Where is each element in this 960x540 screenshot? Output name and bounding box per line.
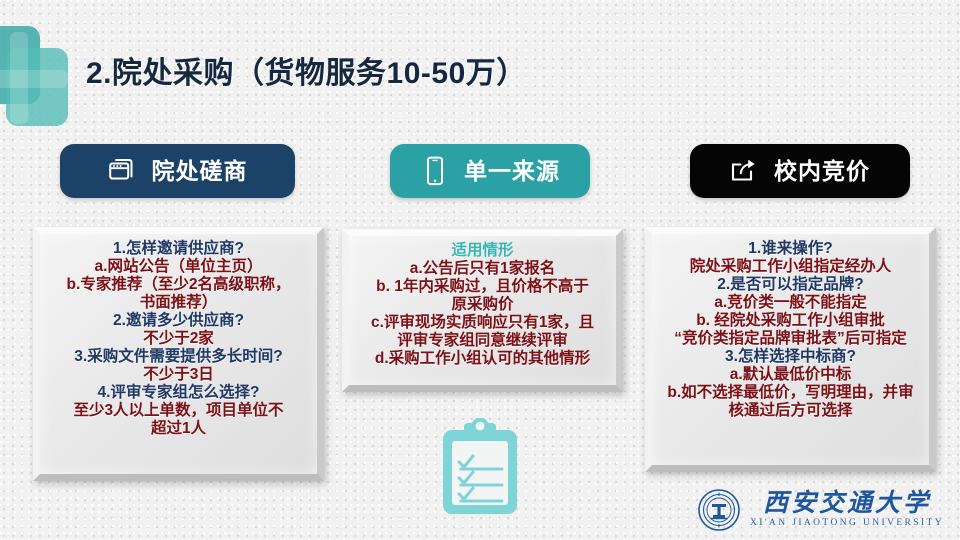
content-card-xiaoneijingjia: 1.谁来操作? 院处采购工作小组指定经办人 2.是否可以指定品牌? a.竞价类一…: [645, 227, 936, 472]
deco-plus-horizontal: [0, 70, 68, 88]
section-header-pill-danyilaiyuan[interactable]: 单一来源: [390, 144, 590, 198]
university-name-cn: 西安交通大学: [763, 491, 931, 516]
card-line: c.评审现场实质响应只有1家，且: [355, 314, 610, 332]
card-line: 3.怎样选择中标商?: [658, 348, 923, 366]
clipboard-checklist-icon: [432, 418, 528, 527]
content-card-yuanchucuoshang: 1.怎样邀请供应商? a.网站公告（单位主页） b.专家推荐（至少2名高级职称，…: [33, 227, 324, 481]
card-line: 评审专家组同意继续评审: [355, 332, 610, 350]
card-line: 不少于2家: [46, 330, 311, 348]
browser-window-icon: [108, 156, 138, 186]
university-seal-icon: [697, 488, 741, 532]
mobile-phone-icon: [420, 156, 450, 186]
card-line: b. 经院处采购工作小组审批: [658, 312, 923, 330]
pill-label: 单一来源: [464, 160, 560, 183]
card-line: a.默认最低价中标: [658, 366, 923, 384]
share-export-icon: [730, 156, 760, 186]
card-line: a.网站公告（单位主页）: [46, 258, 311, 276]
page-title: 2.院处采购（货物服务10-50万）: [86, 48, 527, 92]
section-header-pill-yuanchucuoshang[interactable]: 院处磋商: [60, 144, 295, 198]
card-line: 原采购价: [355, 296, 610, 314]
university-wordmark: 西安交通大学 XI'AN JIAOTONG UNIVERSITY: [750, 491, 944, 529]
card-line: b.如不选择最低价，写明理由，并审: [658, 384, 923, 402]
section-header-pill-xiaoneijingjia[interactable]: 校内竞价: [690, 144, 910, 198]
card-line: b. 1年内采购过，且价格不高于: [355, 278, 610, 296]
card-line: “竞价类指定品牌审批表”后可指定: [658, 330, 923, 348]
card-line: b.专家推荐（至少2名高级职称，: [46, 276, 311, 294]
card-line: 4.评审专家组怎么选择?: [46, 384, 311, 402]
card-line: d.采购工作小组认可的其他情形: [355, 350, 610, 368]
pill-label: 院处磋商: [152, 160, 248, 183]
card-line: 3.采购文件需要提供多长时间?: [46, 348, 311, 366]
card-line: 至少3人以上单数，项目单位不: [46, 402, 311, 420]
card-heading: 适用情形: [355, 242, 610, 260]
card-line: a.公告后只有1家报名: [355, 260, 610, 278]
card-line: 超过1人: [46, 420, 311, 438]
card-line: 1.谁来操作?: [658, 240, 923, 258]
card-line: 书面推荐）: [46, 294, 311, 312]
university-logo: 西安交通大学 XI'AN JIAOTONG UNIVERSITY: [697, 488, 944, 532]
university-name-en: XI'AN JIAOTONG UNIVERSITY: [750, 519, 944, 529]
card-line: 1.怎样邀请供应商?: [46, 240, 311, 258]
card-line: 2.邀请多少供应商?: [46, 312, 311, 330]
card-line: 不少于3日: [46, 366, 311, 384]
card-line: 核通过后方可选择: [658, 402, 923, 420]
content-card-danyilaiyuan: 适用情形 a.公告后只有1家报名 b. 1年内采购过，且价格不高于 原采购价 c…: [342, 229, 623, 392]
pill-label: 校内竞价: [774, 160, 870, 183]
card-line: 2.是否可以指定品牌?: [658, 276, 923, 294]
card-line: 院处采购工作小组指定经办人: [658, 258, 923, 276]
teal-squares-decoration: [0, 26, 74, 126]
card-line: a.竞价类一般不能指定: [658, 294, 923, 312]
